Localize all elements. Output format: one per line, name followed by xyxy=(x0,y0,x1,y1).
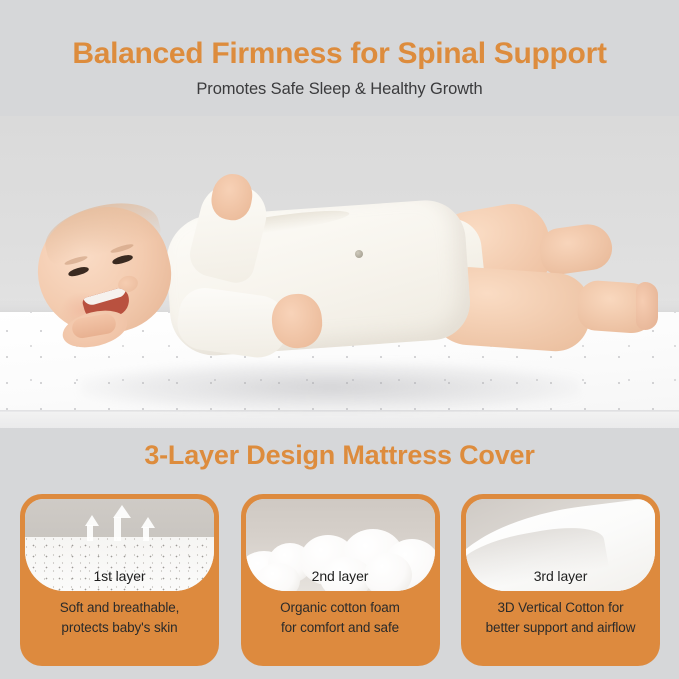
layer-1-desc-line-1: Soft and breathable, xyxy=(26,598,213,618)
page-title: Balanced Firmness for Spinal Support xyxy=(0,35,679,73)
baby-illustration xyxy=(0,116,679,428)
layer-2-desc-line-2: for comfort and safe xyxy=(247,618,434,638)
layer-1-description: Soft and breathable, protects baby's ski… xyxy=(26,598,213,638)
airflow-arrow-left-stem-icon xyxy=(87,525,93,541)
baby-toes xyxy=(636,282,658,330)
baby-back-foot xyxy=(537,221,615,277)
airflow-arrow-center-stem-icon xyxy=(114,517,121,541)
layer-3-description: 3D Vertical Cotton for better support an… xyxy=(467,598,654,638)
layer-3-desc-line-1: 3D Vertical Cotton for xyxy=(467,598,654,618)
layer-2-label: 2nd layer xyxy=(246,566,435,591)
product-infographic: Balanced Firmness for Spinal Support Pro… xyxy=(0,0,679,679)
layer-1-image: 1st layer xyxy=(25,499,214,591)
layer-card-1: 1st layer Soft and breathable, protects … xyxy=(20,494,219,666)
section-title: 3-Layer Design Mattress Cover xyxy=(0,438,679,472)
header: Balanced Firmness for Spinal Support Pro… xyxy=(0,0,679,118)
layer-2-description: Organic cotton foam for comfort and safe xyxy=(247,598,434,638)
layer-1-label: 1st layer xyxy=(25,566,214,591)
layer-3-desc-line-2: better support and airflow xyxy=(467,618,654,638)
airflow-arrow-right-stem-icon xyxy=(143,527,149,541)
page-subtitle: Promotes Safe Sleep & Healthy Growth xyxy=(0,78,679,100)
layer-cards: 1st layer Soft and breathable, protects … xyxy=(20,494,660,666)
layer-card-2: 2nd layer Organic cotton foam for comfor… xyxy=(241,494,440,666)
layer-1-desc-line-2: protects baby's skin xyxy=(26,618,213,638)
layer-2-desc-line-1: Organic cotton foam xyxy=(247,598,434,618)
layer-3-label: 3rd layer xyxy=(466,566,655,591)
hero-photo xyxy=(0,116,679,428)
layer-card-3: 3rd layer 3D Vertical Cotton for better … xyxy=(461,494,660,666)
layer-3-image: 3rd layer xyxy=(466,499,655,591)
baby-onesie-snap xyxy=(355,250,363,258)
layer-2-image: 2nd layer xyxy=(246,499,435,591)
